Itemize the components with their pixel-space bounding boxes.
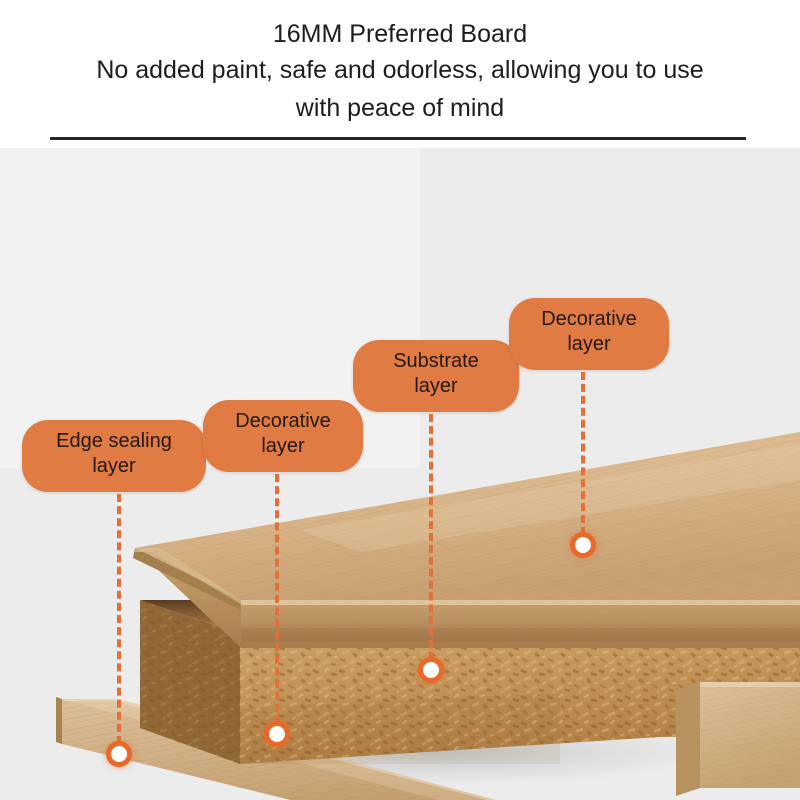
callout-label-line-2: layer <box>509 332 669 357</box>
callout-label-line-1: Decorative <box>509 307 669 332</box>
leader-line-substrate <box>429 414 433 660</box>
leader-line-decorative-lower <box>275 474 279 724</box>
marker-edge-sealing-layer[interactable] <box>106 741 132 767</box>
header-section: 16MM Preferred Board No added paint, saf… <box>0 0 800 148</box>
callout-substrate-layer[interactable]: Substrate layer <box>353 340 519 412</box>
right-edge-band <box>676 682 800 796</box>
callout-label-line-1: Decorative <box>203 409 363 434</box>
illustration-stage: Edge sealing layer Decorative layer Subs… <box>0 148 800 800</box>
product-infographic: 16MM Preferred Board No added paint, saf… <box>0 0 800 800</box>
callout-label-line-2: layer <box>353 374 519 399</box>
callout-label-line-2: layer <box>22 454 206 479</box>
marker-decorative-layer-upper[interactable] <box>570 532 596 558</box>
header-divider <box>50 137 746 140</box>
subtitle-line-1: No added paint, safe and odorless, allow… <box>0 56 800 85</box>
subtitle-line-2: with peace of mind <box>0 94 800 123</box>
marker-decorative-layer-lower[interactable] <box>264 721 290 747</box>
page-title: 16MM Preferred Board <box>0 20 800 49</box>
leader-line-decorative-upper <box>581 372 585 535</box>
callout-decorative-layer-upper[interactable]: Decorative layer <box>509 298 669 370</box>
marker-substrate-layer[interactable] <box>418 657 444 683</box>
callout-edge-sealing-layer[interactable]: Edge sealing layer <box>22 420 206 492</box>
callout-label-line-2: layer <box>203 434 363 459</box>
leader-line-edge-sealing <box>117 494 121 744</box>
callout-decorative-layer-lower[interactable]: Decorative layer <box>203 400 363 472</box>
callout-label-line-1: Substrate <box>353 349 519 374</box>
callout-label-line-1: Edge sealing <box>22 429 206 454</box>
